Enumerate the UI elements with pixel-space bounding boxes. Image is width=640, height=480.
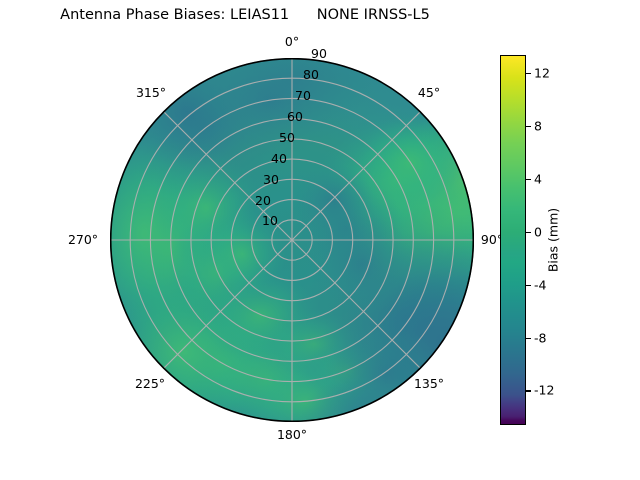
colorbar-tick-mark-m8 bbox=[526, 338, 531, 339]
azimuth-tick-0: 0° bbox=[276, 34, 308, 49]
radial-tick-70: 70 bbox=[295, 88, 311, 103]
colorbar-gradient bbox=[500, 55, 526, 425]
colorbar-tick-mark-8 bbox=[526, 126, 531, 127]
azimuth-tick-225: 225° bbox=[128, 376, 172, 391]
colorbar-tick-label-m4: -4 bbox=[534, 277, 546, 292]
azimuth-tick-270: 270° bbox=[61, 232, 105, 247]
colorbar-tick-label-8: 8 bbox=[534, 118, 542, 133]
page-title: Antenna Phase Biases: LEIAS11 NONE IRNSS… bbox=[0, 7, 490, 23]
radial-tick-50: 50 bbox=[279, 130, 295, 145]
radial-tick-20: 20 bbox=[255, 193, 271, 208]
colorbar-tick-mark-m4 bbox=[526, 285, 531, 286]
colorbar-tick-mark-12 bbox=[526, 73, 531, 74]
colorbar-tick-mark-4 bbox=[526, 179, 531, 180]
colorbar-tick-label-m12: -12 bbox=[534, 383, 554, 398]
azimuth-tick-45: 45° bbox=[410, 85, 448, 100]
azimuth-tick-180: 180° bbox=[268, 427, 316, 442]
colorbar[interactable]: 12 8 4 0 -4 -8 -12 bbox=[500, 55, 526, 425]
colorbar-tick-label-4: 4 bbox=[534, 171, 542, 186]
radial-tick-80: 80 bbox=[303, 67, 319, 82]
radial-tick-90: 90 bbox=[311, 46, 327, 61]
colorbar-tick-mark-0 bbox=[526, 232, 531, 233]
colorbar-tick-label-12: 12 bbox=[534, 66, 550, 81]
polar-axes[interactable]: 10 20 30 40 50 60 70 80 90 0° 45° 90° 13… bbox=[110, 58, 474, 422]
azimuth-tick-315: 315° bbox=[129, 85, 173, 100]
radial-tick-10: 10 bbox=[262, 213, 278, 228]
radial-tick-30: 30 bbox=[263, 172, 279, 187]
colorbar-tick-label-m8: -8 bbox=[534, 330, 546, 345]
figure-canvas: Antenna Phase Biases: LEIAS11 NONE IRNSS… bbox=[0, 0, 640, 480]
radial-tick-40: 40 bbox=[271, 151, 287, 166]
radial-tick-60: 60 bbox=[287, 109, 303, 124]
colorbar-tick-mark-m12 bbox=[526, 390, 531, 391]
colorbar-tick-label-0: 0 bbox=[534, 224, 542, 239]
azimuth-tick-135: 135° bbox=[407, 376, 451, 391]
colorbar-axis-label: Bias (mm) bbox=[546, 208, 561, 272]
